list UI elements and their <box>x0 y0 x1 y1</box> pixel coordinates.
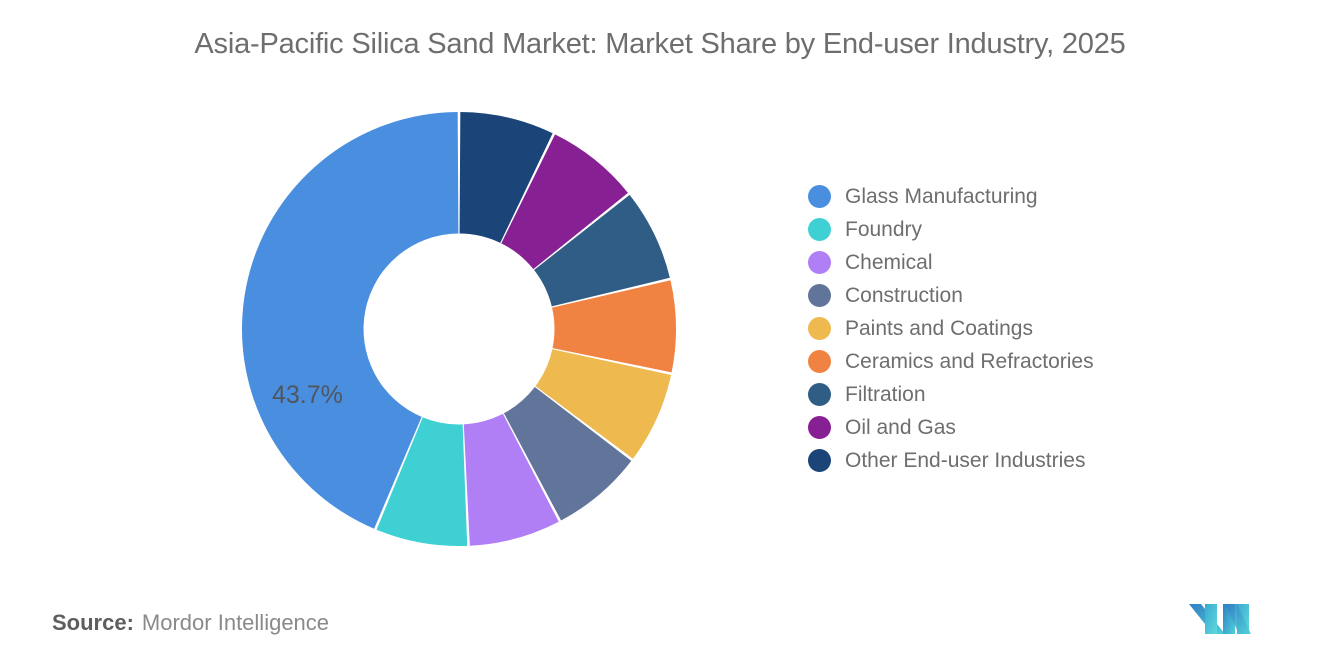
donut-chart-plot-area: 43.7% Glass Manufacturing Foundry Chemic… <box>0 95 1320 575</box>
legend-item-label: Construction <box>845 285 963 306</box>
legend-swatch-icon <box>808 449 831 472</box>
legend-item-label: Oil and Gas <box>845 417 956 438</box>
legend-item-filtration[interactable]: Filtration <box>808 378 1238 411</box>
donut-svg <box>233 103 685 555</box>
legend-item-construction[interactable]: Construction <box>808 279 1238 312</box>
legend-swatch-icon <box>808 317 831 340</box>
source-label: Source: <box>52 610 134 635</box>
mordor-intelligence-logo <box>1185 598 1255 640</box>
slice-data-label-glass-manufacturing: 43.7% <box>272 381 343 410</box>
legend-swatch-icon <box>808 416 831 439</box>
legend-swatch-icon <box>808 284 831 307</box>
legend-item-other-end-user-industries[interactable]: Other End-user Industries <box>808 444 1238 477</box>
legend-swatch-icon <box>808 350 831 373</box>
legend-item-label: Chemical <box>845 252 933 273</box>
chart-legend: Glass Manufacturing Foundry Chemical Con… <box>808 180 1238 477</box>
source-line: Source:Mordor Intelligence <box>52 610 329 636</box>
legend-item-label: Other End-user Industries <box>845 450 1085 471</box>
page-title: Asia-Pacific Silica Sand Market: Market … <box>0 28 1320 61</box>
legend-swatch-icon <box>808 251 831 274</box>
legend-item-foundry[interactable]: Foundry <box>808 213 1238 246</box>
legend-item-label: Glass Manufacturing <box>845 186 1038 207</box>
legend-item-label: Ceramics and Refractories <box>845 351 1094 372</box>
source-value: Mordor Intelligence <box>142 610 329 635</box>
legend-item-chemical[interactable]: Chemical <box>808 246 1238 279</box>
legend-item-oil-and-gas[interactable]: Oil and Gas <box>808 411 1238 444</box>
legend-swatch-icon <box>808 383 831 406</box>
legend-item-glass-manufacturing[interactable]: Glass Manufacturing <box>808 180 1238 213</box>
legend-swatch-icon <box>808 185 831 208</box>
legend-swatch-icon <box>808 218 831 241</box>
legend-item-paints-and-coatings[interactable]: Paints and Coatings <box>808 312 1238 345</box>
donut-chart <box>233 103 685 555</box>
legend-item-label: Foundry <box>845 219 922 240</box>
donut-slice-group <box>242 112 676 546</box>
legend-item-label: Paints and Coatings <box>845 318 1033 339</box>
legend-item-ceramics-and-refractories[interactable]: Ceramics and Refractories <box>808 345 1238 378</box>
legend-item-label: Filtration <box>845 384 926 405</box>
